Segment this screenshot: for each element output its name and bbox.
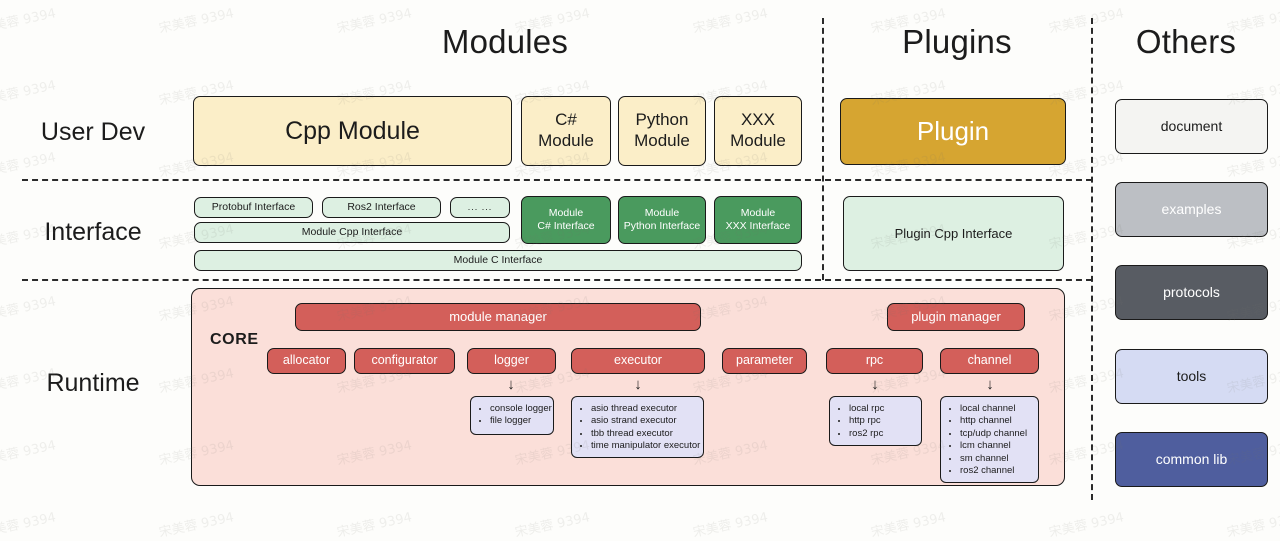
list-item: local rpc [849,403,913,415]
interface-box-module-xxx[interactable]: Module XXX Interface [714,196,802,244]
module-box-csharp[interactable]: C# Module [521,96,611,166]
list-item: local channel [960,403,1030,415]
core-node-configurator[interactable]: configurator [354,348,455,374]
core-node-allocator[interactable]: allocator [267,348,346,374]
arrow-down-icon-channel: ↓ [983,377,997,391]
architecture-diagram: Modules Plugins Others User Dev Interfac… [0,0,1280,519]
list-item: tcp/udp channel [960,428,1030,440]
column-title-modules: Modules [190,23,820,61]
arrow-down-icon-executor: ↓ [631,377,645,391]
others-box-common-lib[interactable]: common lib [1115,432,1268,487]
core-node-executor[interactable]: executor [571,348,705,374]
list-item: asio thread executor [591,403,695,415]
interface-box-module-cpp[interactable]: Module Cpp Interface [194,222,510,243]
list-item: console logger [490,403,545,415]
module-box-cpp[interactable]: Cpp Module [193,96,512,166]
core-list-channel-items: local channelhttp channeltcp/udp channel… [947,403,1030,477]
module-box-xxx[interactable]: XXX Module [714,96,802,166]
list-item: ros2 channel [960,465,1030,477]
others-box-tools[interactable]: tools [1115,349,1268,404]
list-item: http channel [960,415,1030,427]
others-box-document[interactable]: document [1115,99,1268,154]
list-item: time manipulator executor [591,440,695,452]
divider-modules-plugins [822,18,824,280]
interface-box-protobuf[interactable]: Protobuf Interface [194,197,313,218]
interface-box-module-c[interactable]: Module C Interface [194,250,802,271]
core-list-rpc: local rpchttp rpcros2 rpc [829,396,922,446]
interface-box-module-csharp[interactable]: Module C# Interface [521,196,611,244]
interface-box-ros2[interactable]: Ros2 Interface [322,197,441,218]
row-label-interface: Interface [8,218,178,247]
core-list-channel: local channelhttp channeltcp/udp channel… [940,396,1039,483]
interface-box-ellipsis[interactable]: ... ... [450,197,510,218]
core-node-module-manager[interactable]: module manager [295,303,701,331]
list-item: lcm channel [960,440,1030,452]
core-list-executor-items: asio thread executorasio strand executor… [578,403,695,453]
core-list-logger: console loggerfile logger [470,396,554,435]
core-list-logger-items: console loggerfile logger [477,403,545,428]
list-item: sm channel [960,453,1030,465]
divider-plugins-others [1091,18,1093,500]
core-node-channel[interactable]: channel [940,348,1039,374]
row-label-runtime: Runtime [8,369,178,398]
core-node-logger[interactable]: logger [467,348,556,374]
arrow-down-icon-rpc: ↓ [868,377,882,391]
row-label-user-dev: User Dev [8,118,178,147]
core-list-executor: asio thread executorasio strand executor… [571,396,704,458]
core-list-rpc-items: local rpchttp rpcros2 rpc [836,403,913,440]
interface-box-module-python[interactable]: Module Python Interface [618,196,706,244]
list-item: ros2 rpc [849,428,913,440]
others-box-examples[interactable]: examples [1115,182,1268,237]
core-node-plugin-manager[interactable]: plugin manager [887,303,1025,331]
module-box-python[interactable]: Python Module [618,96,706,166]
plugin-box[interactable]: Plugin [840,98,1066,165]
list-item: asio strand executor [591,415,695,427]
list-item: tbb thread executor [591,428,695,440]
core-node-parameter[interactable]: parameter [722,348,807,374]
divider-interface-runtime [22,279,1092,281]
core-label: CORE [210,331,259,349]
others-box-protocols[interactable]: protocols [1115,265,1268,320]
column-title-others: Others [1093,23,1279,61]
list-item: file logger [490,415,545,427]
list-item: http rpc [849,415,913,427]
arrow-down-icon-logger: ↓ [504,377,518,391]
divider-userdev-interface [22,179,1092,181]
interface-box-plugin-cpp[interactable]: Plugin Cpp Interface [843,196,1064,271]
core-node-rpc[interactable]: rpc [826,348,923,374]
column-title-plugins: Plugins [824,23,1090,61]
